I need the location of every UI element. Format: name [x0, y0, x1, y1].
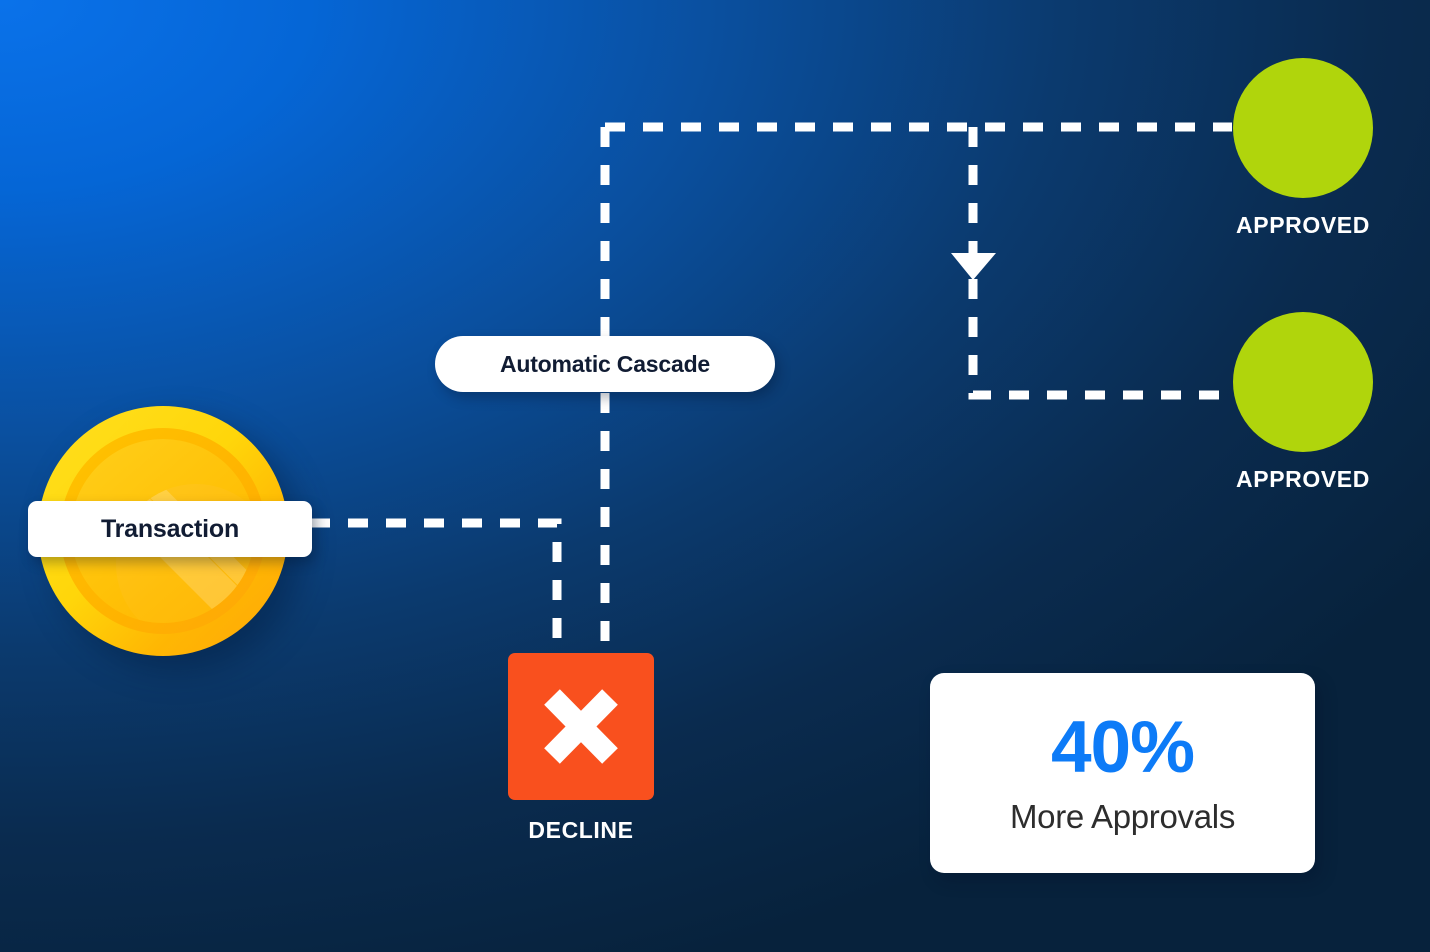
wire-cascade-to-approved-2: [973, 127, 1232, 395]
approved-label-2: APPROVED: [1196, 466, 1410, 493]
diagram-canvas: Transaction Automatic Cascade DECLINE AP…: [0, 0, 1430, 952]
transaction-label[interactable]: Transaction: [28, 501, 312, 557]
stat-value: 40%: [1051, 711, 1194, 784]
decline-node: DECLINE: [508, 653, 654, 844]
decline-label: DECLINE: [508, 817, 654, 844]
approved-node-2: APPROVED: [1196, 312, 1410, 493]
approved-circle-2[interactable]: [1233, 312, 1373, 452]
decline-box[interactable]: [508, 653, 654, 800]
wire-transaction-to-decline: [310, 523, 557, 653]
stat-card: 40% More Approvals: [930, 673, 1315, 873]
arrow-head-down-icon: [951, 253, 996, 280]
x-mark-icon: [508, 653, 654, 800]
stat-caption: More Approvals: [1010, 798, 1235, 836]
approved-circle-1[interactable]: [1233, 58, 1373, 198]
approved-node-1: APPROVED: [1196, 58, 1410, 239]
approved-label-1: APPROVED: [1196, 212, 1410, 239]
automatic-cascade-label[interactable]: Automatic Cascade: [435, 336, 775, 392]
